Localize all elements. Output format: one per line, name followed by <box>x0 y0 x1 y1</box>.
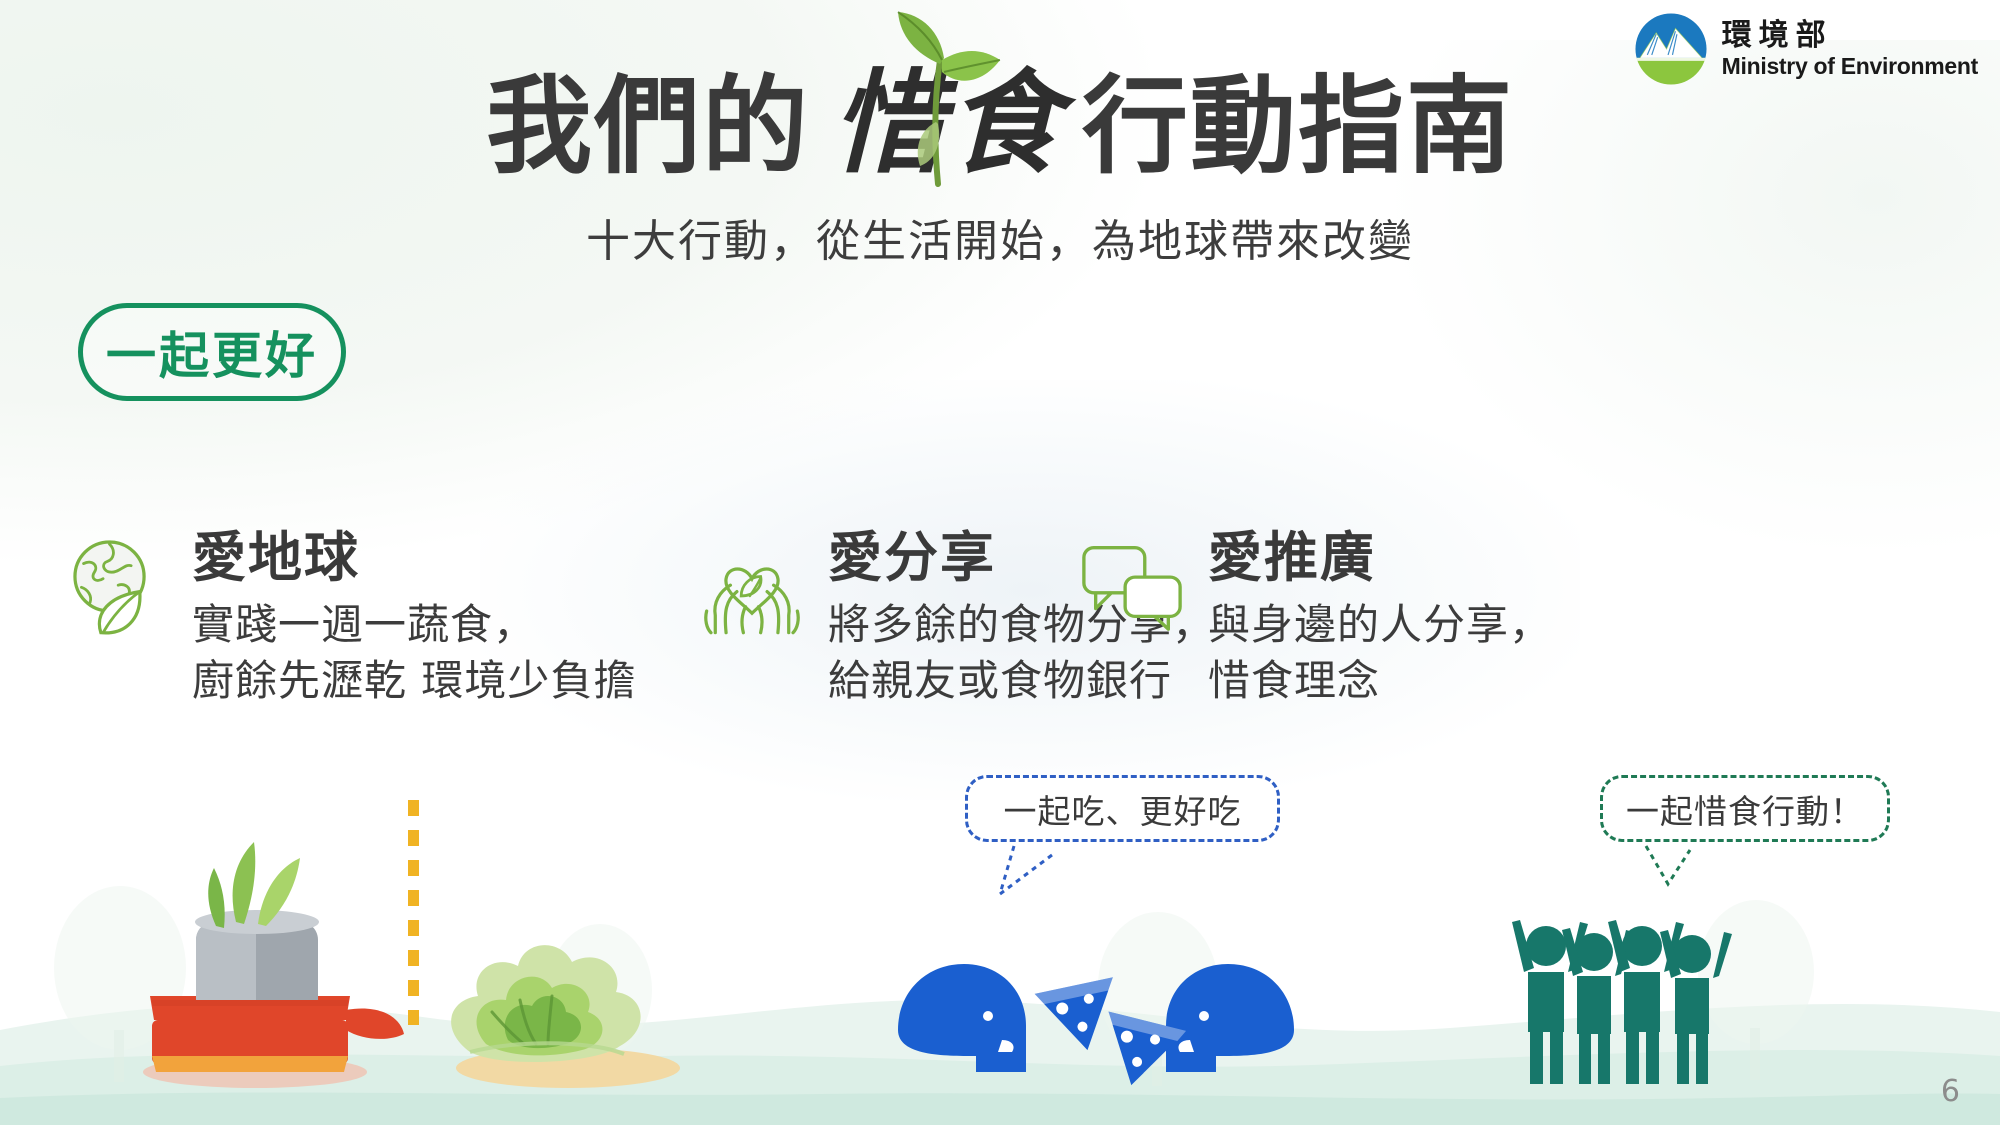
title-part-1: 我們的 <box>486 71 810 182</box>
column-love-promote-body: 愛推廣 與身邊的人分享， 惜食理念 <box>1208 528 1552 709</box>
hands-heart-leaf-icon <box>698 528 806 638</box>
column-love-promote-title: 愛推廣 <box>1208 528 1552 587</box>
dotted-divider <box>408 800 419 1025</box>
speech-bubble-share: 一起吃、更好吃 <box>965 775 1280 842</box>
speech-bubble-promote-text: 一起惜食行動！ <box>1626 785 1864 833</box>
column-love-earth-title: 愛地球 <box>192 528 636 587</box>
title-part-2: 行動指南 <box>1082 71 1514 182</box>
globe-leaf-icon <box>62 528 170 638</box>
slide-canvas: 環境部 Ministry of Environment 我們的 惜食 行動指南 … <box>0 0 2000 1125</box>
speech-bubble-share-text: 一起吃、更好吃 <box>1004 785 1242 833</box>
column-love-promote: 愛推廣 與身邊的人分享， 惜食理念 <box>1088 528 1552 709</box>
page-subtitle: 十大行動，從生活開始，為地球帶來改變 <box>0 205 2000 269</box>
together-better-badge[interactable]: 一起更好 <box>78 303 346 401</box>
title-brush-word: 惜食 <box>832 68 1064 182</box>
speech-bubble-promote: 一起惜食行動！ <box>1600 775 1890 842</box>
page-number: 6 <box>1941 1074 1960 1109</box>
ministry-name-cn: 環境部 <box>1722 20 1978 52</box>
speech-bubbles-icon <box>1078 528 1186 638</box>
column-love-earth: 愛地球 實踐一週一蔬食， 廚餘先瀝乾 環境少負擔 <box>62 528 636 709</box>
column-love-earth-line-1: 實踐一週一蔬食， <box>192 597 636 653</box>
together-better-badge-label: 一起更好 <box>106 316 318 388</box>
bottom-illustration <box>0 700 2000 1125</box>
column-love-earth-body: 愛地球 實踐一週一蔬食， 廚餘先瀝乾 環境少負擔 <box>192 528 636 709</box>
bubble-tail-promote <box>1646 846 1690 884</box>
bubble-tail-share <box>1000 846 1056 894</box>
page-title: 我們的 惜食 行動指南 <box>0 68 2000 182</box>
column-love-promote-line-1: 與身邊的人分享， <box>1208 597 1552 653</box>
